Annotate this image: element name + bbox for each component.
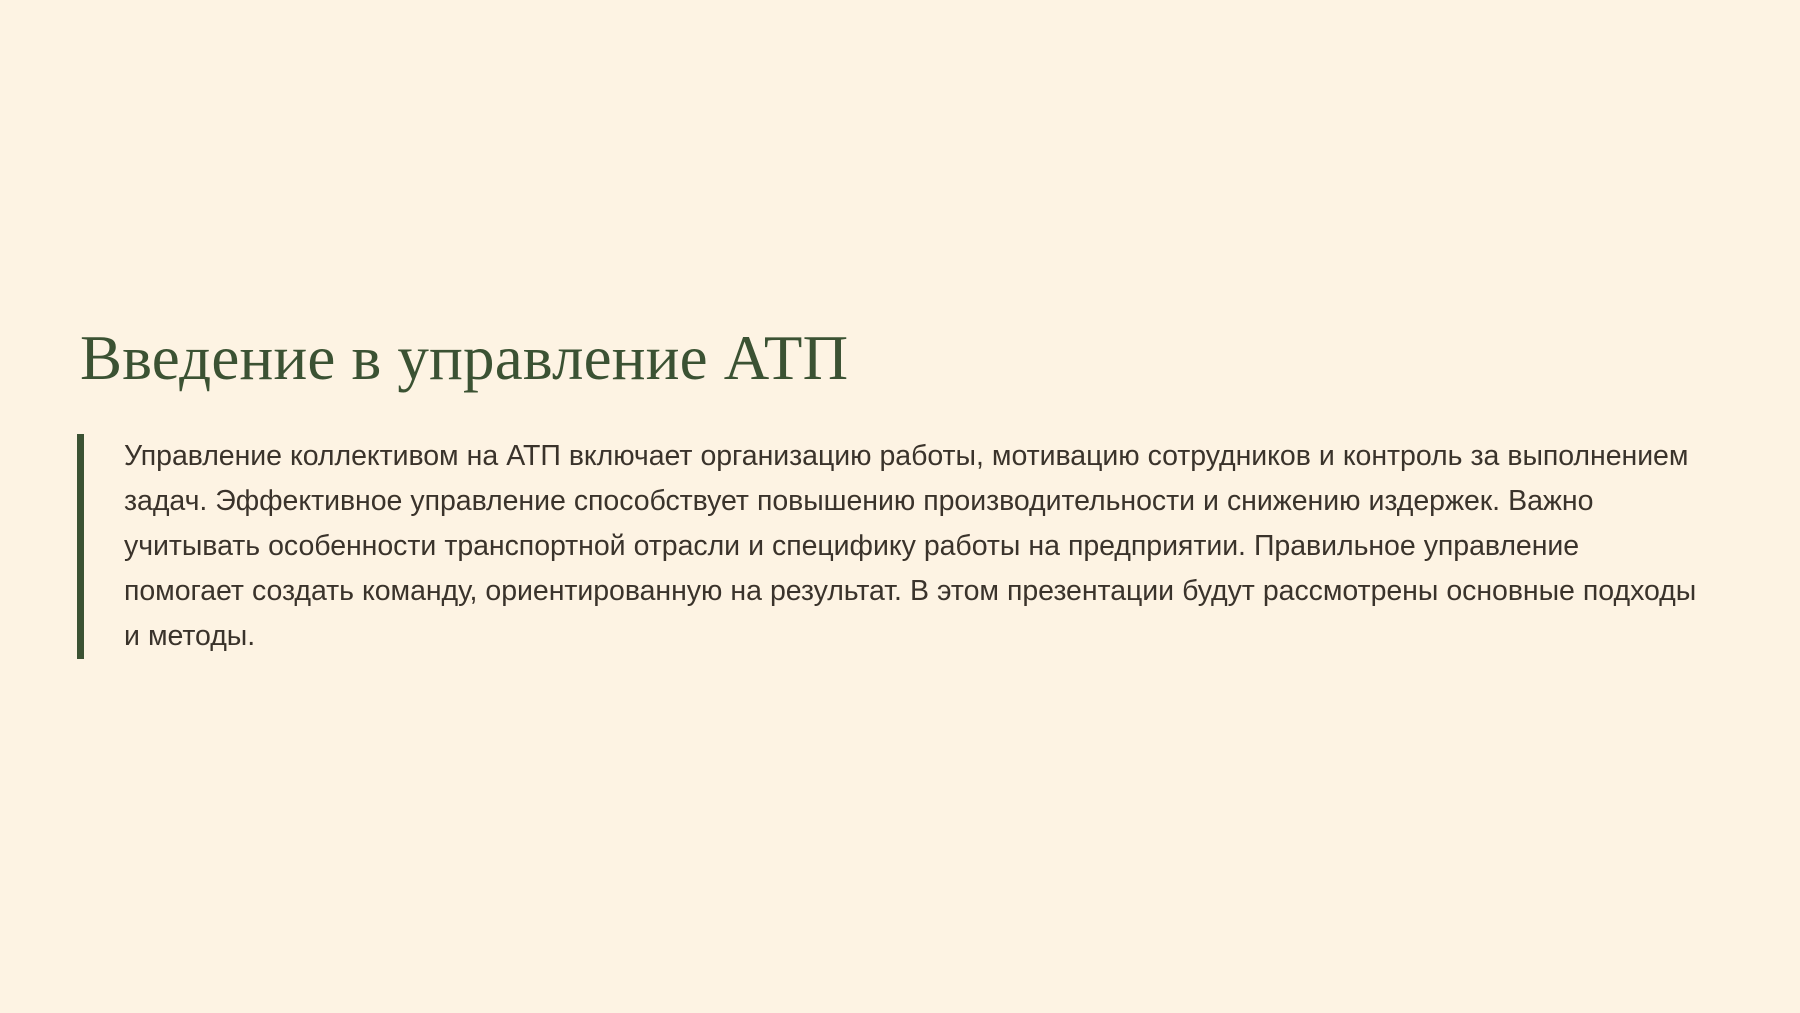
- slide-body-text: Управление коллективом на АТП включает о…: [84, 434, 1697, 659]
- body-quote-block: Управление коллективом на АТП включает о…: [77, 434, 1697, 659]
- slide-title: Введение в управление АТП: [80, 322, 1680, 394]
- presentation-slide: Введение в управление АТП Управление кол…: [0, 0, 1800, 1013]
- left-accent-bar: [77, 434, 84, 659]
